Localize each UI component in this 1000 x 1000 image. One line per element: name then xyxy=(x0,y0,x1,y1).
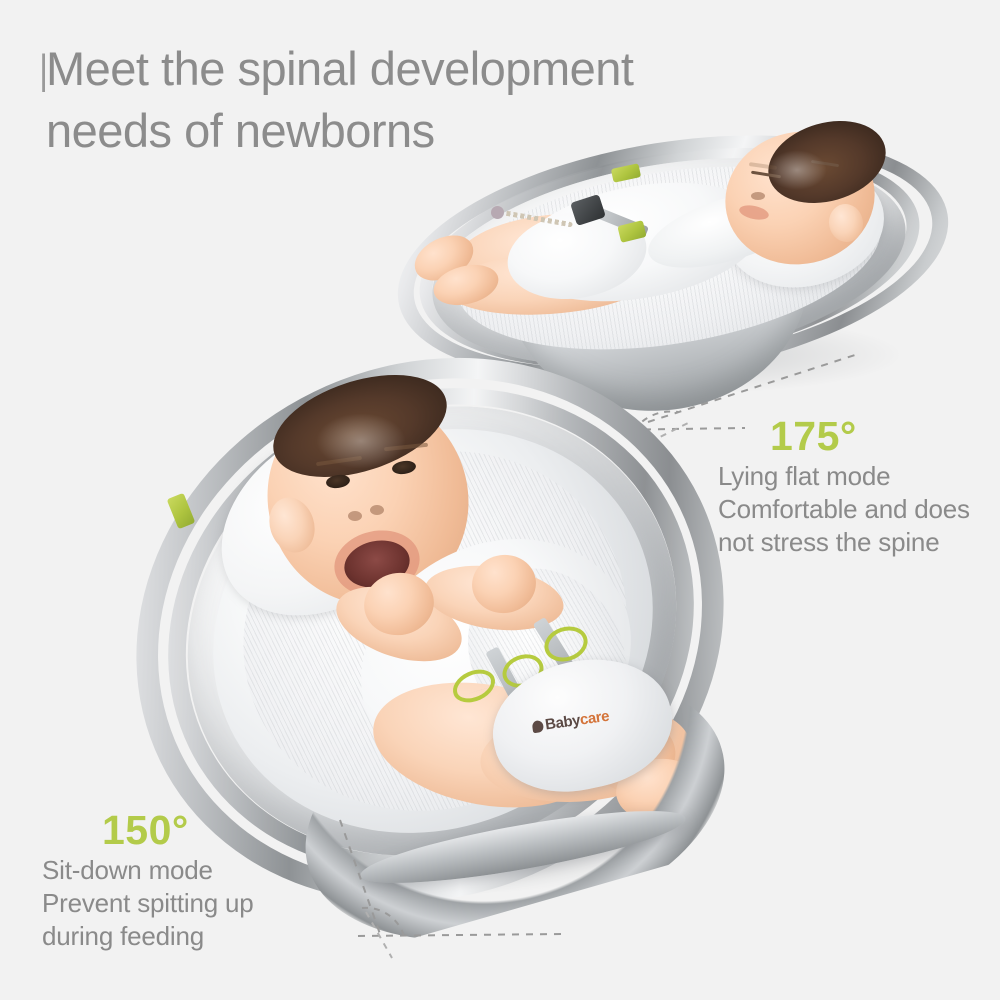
snap-button xyxy=(491,206,504,219)
angle-150-arc xyxy=(362,908,404,936)
baby-nose xyxy=(751,192,765,200)
annotation-sit-down: 150° Sit-down mode Prevent spitting up d… xyxy=(42,806,254,953)
angle-150-line-a xyxy=(340,820,380,934)
bouncer-head-highlight xyxy=(316,413,406,469)
bouncer-nostril-left xyxy=(348,511,362,521)
product-marketing-image: | Meet the spinal development needs of n… xyxy=(0,0,1000,1000)
headline-clipped-glyph: | xyxy=(38,52,45,92)
bouncer-nostril-right xyxy=(370,505,384,515)
angle-indicator-150 xyxy=(262,812,562,972)
angle-value-150: 150° xyxy=(102,806,254,854)
head-highlight xyxy=(767,150,827,190)
mode-description-sit-down: Prevent spitting up during feeding xyxy=(42,887,254,953)
mode-label-sit-down: Sit-down mode xyxy=(42,854,254,887)
angle-value-175: 175° xyxy=(770,412,970,460)
angle-150-line-b xyxy=(358,934,562,936)
